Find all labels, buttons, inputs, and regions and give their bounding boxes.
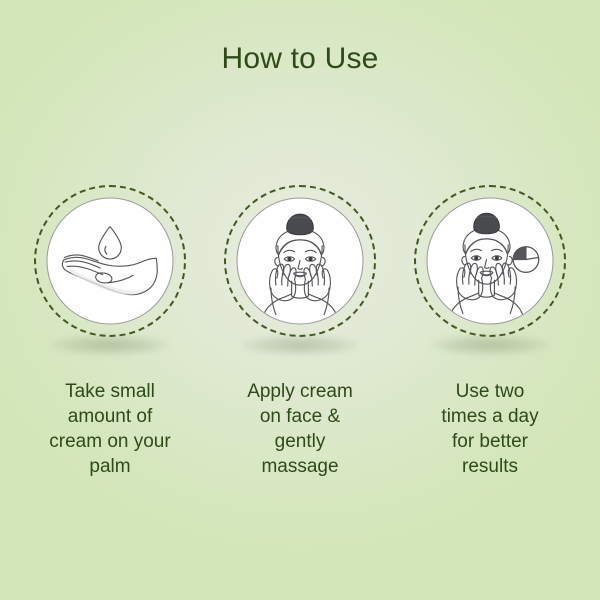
hand-with-droplet-icon <box>48 199 173 324</box>
step-2-caption: Apply cream on face & gently massage <box>209 379 391 479</box>
woman-applying-cream-to-face-icon <box>238 199 363 324</box>
clock-pie-icon <box>513 247 539 273</box>
badge-drop-shadow <box>241 335 359 355</box>
badge-drop-shadow <box>51 335 169 355</box>
step-1-caption: Take small amount of cream on your palm <box>19 379 201 479</box>
step-3-caption: Use two times a day for better results <box>399 379 581 479</box>
step-item-2: Apply cream on face & gently massage <box>205 185 395 479</box>
woman-applying-cream-with-clock-icon <box>428 199 553 324</box>
step-3-badge <box>414 185 566 337</box>
icon-disc <box>427 198 554 325</box>
page-title: How to Use <box>0 41 600 77</box>
step-item-1: Take small amount of cream on your palm <box>15 185 205 479</box>
how-to-use-poster: How to Use <box>0 0 600 600</box>
icon-disc <box>237 198 364 325</box>
step-2-badge <box>224 185 376 337</box>
badge-drop-shadow <box>431 335 549 355</box>
hand-shading <box>69 267 150 294</box>
step-1-badge <box>34 185 186 337</box>
icon-disc <box>47 198 174 325</box>
step-item-3: Use two times a day for better results <box>395 185 585 479</box>
steps-row: Take small amount of cream on your palm <box>0 185 600 479</box>
